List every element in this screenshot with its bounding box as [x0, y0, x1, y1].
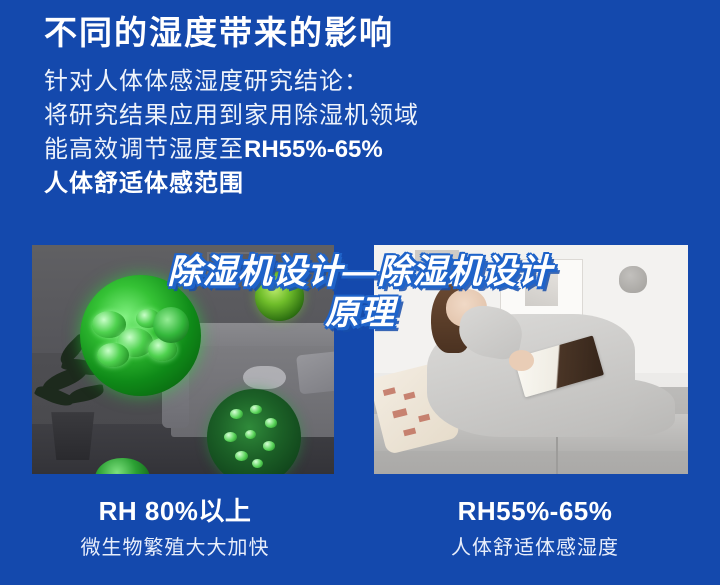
dark-room-illustration: [32, 245, 334, 474]
body-line-2: 将研究结果应用到家用除湿机领域: [44, 99, 664, 133]
photo-left-high-humidity: [32, 245, 334, 474]
caption-left-sub: 微生物繁殖大大加快: [0, 535, 355, 561]
body-line-3: 能高效调节湿度至RH55%-65%: [44, 133, 664, 167]
photo-panel-row: [0, 245, 720, 475]
caption-right-headline: RH55%-65%: [355, 495, 715, 529]
germ-small-top-right: [255, 272, 303, 320]
photo-right-comfort-humidity: [374, 245, 688, 474]
caption-right: RH55%-65% 人体舒适体感湿度: [355, 495, 715, 561]
plant-leaf: [67, 384, 105, 404]
body-line-3-prefix: 能高效调节湿度至: [44, 136, 244, 163]
wall-lamp: [619, 266, 647, 293]
caption-left-headline: RH 80%以上: [0, 495, 355, 529]
body-text-block: 针对人体体感湿度研究结论： 将研究结果应用到家用除湿机领域 能高效调节湿度至RH…: [44, 65, 664, 201]
dark-sofa-cushion: [296, 350, 334, 394]
bright-wall-shelf: [415, 250, 459, 264]
germ-virus-bottom-right: [207, 389, 301, 474]
body-line-1: 针对人体体感湿度研究结论：: [44, 65, 664, 99]
poster-root: 不同的湿度带来的影响 针对人体体感湿度研究结论： 将研究结果应用到家用除湿机领域…: [0, 0, 720, 585]
caption-row: RH 80%以上 微生物繁殖大大加快 RH55%-65% 人体舒适体感湿度: [0, 495, 720, 585]
bright-wall-frame: [500, 259, 584, 321]
header-block: 不同的湿度带来的影响 针对人体体感湿度研究结论： 将研究结果应用到家用除湿机领域…: [44, 12, 664, 202]
bright-room-illustration: [374, 245, 688, 474]
page-title: 不同的湿度带来的影响: [44, 12, 664, 53]
caption-left: RH 80%以上 微生物繁殖大大加快: [0, 495, 355, 561]
dark-sofa-pillow: [243, 366, 285, 389]
body-line-4: 人体舒适体感范围: [44, 167, 664, 201]
body-line-3-humidity-value: RH55%-65%: [244, 136, 383, 163]
caption-right-sub: 人体舒适体感湿度: [355, 535, 715, 561]
woman-hand: [509, 350, 534, 371]
